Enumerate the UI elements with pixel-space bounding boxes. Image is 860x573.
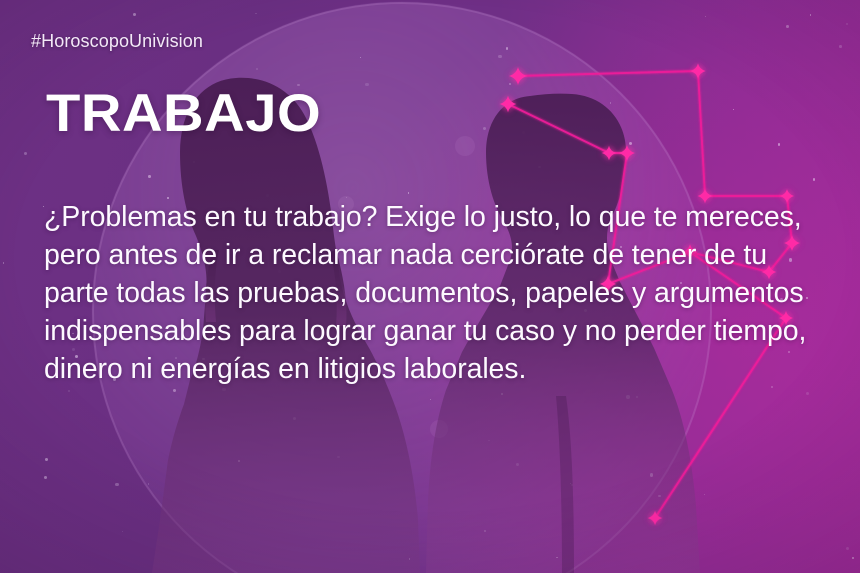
card-content: #HoroscopoUnivision TRABAJO ¿Problemas e…	[0, 0, 860, 573]
horoscope-body-text: ¿Problemas en tu trabajo? Exige lo justo…	[44, 198, 830, 388]
page-title: TRABAJO	[46, 87, 321, 140]
hashtag-label: #HoroscopoUnivision	[31, 31, 203, 52]
horoscope-card: #HoroscopoUnivision TRABAJO ¿Problemas e…	[0, 0, 860, 573]
